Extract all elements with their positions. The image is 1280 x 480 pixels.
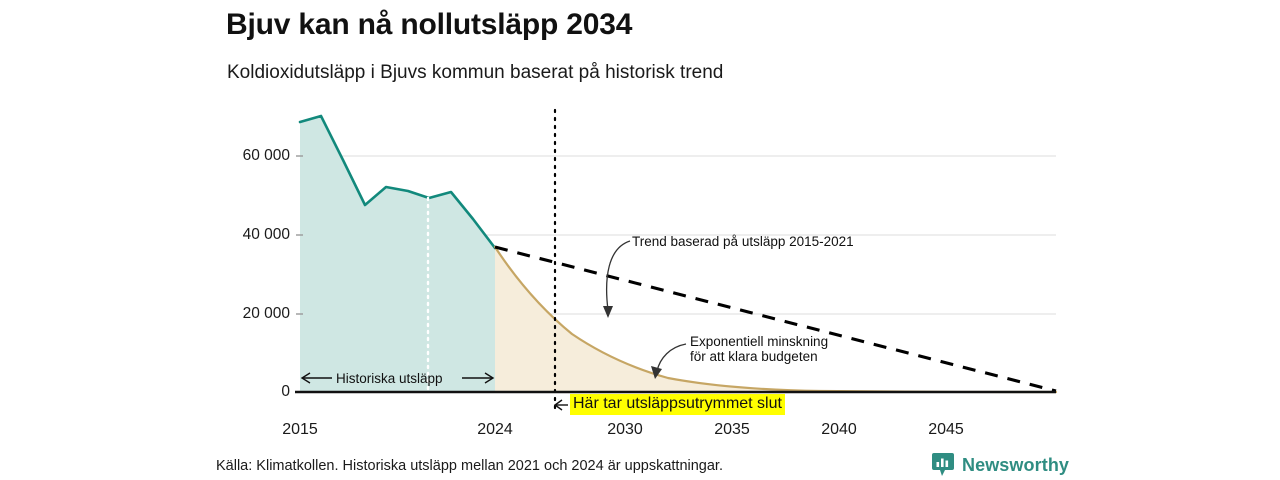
- x-tick-label-2024: 2024: [455, 421, 535, 439]
- budget-end-arrow: [555, 400, 568, 410]
- annotation-historiska-utslapp: Historiska utsläpp: [336, 371, 443, 386]
- x-tick-label-2035: 2035: [692, 421, 772, 439]
- chart-page: Bjuv kan nå nollutsläpp 2034 Koldioxidut…: [0, 0, 1280, 480]
- y-tick-label-20000: 20 000: [180, 305, 290, 323]
- trend-leader-arrowhead: [603, 306, 613, 318]
- annotation-budget-end: Här tar utsläppsutrymmet slut: [570, 394, 785, 415]
- y-tick-label-0: 0: [180, 383, 290, 401]
- source-note: Källa: Klimatkollen. Historiska utsläpp …: [216, 458, 723, 474]
- annotation-trend: Trend baserad på utsläpp 2015-2021: [632, 234, 854, 249]
- y-tick-label-60000: 60 000: [180, 147, 290, 165]
- historical-area: [300, 116, 495, 392]
- newsworthy-logo[interactable]: Newsworthy: [931, 452, 1069, 478]
- x-tick-label-2045: 2045: [906, 421, 986, 439]
- annotation-exponential-line1: Exponentiell minskning: [690, 334, 828, 349]
- y-tick-label-40000: 40 000: [180, 226, 290, 244]
- annotation-exponential-line2: för att klara budgeten: [690, 349, 818, 364]
- x-tick-label-2030: 2030: [585, 421, 665, 439]
- exponential-leader: [657, 344, 686, 371]
- x-tick-label-2040: 2040: [799, 421, 879, 439]
- newsworthy-bar-chart-pin-icon: [931, 452, 955, 478]
- x-tick-label-2015: 2015: [260, 421, 340, 439]
- newsworthy-logo-text: Newsworthy: [962, 455, 1069, 476]
